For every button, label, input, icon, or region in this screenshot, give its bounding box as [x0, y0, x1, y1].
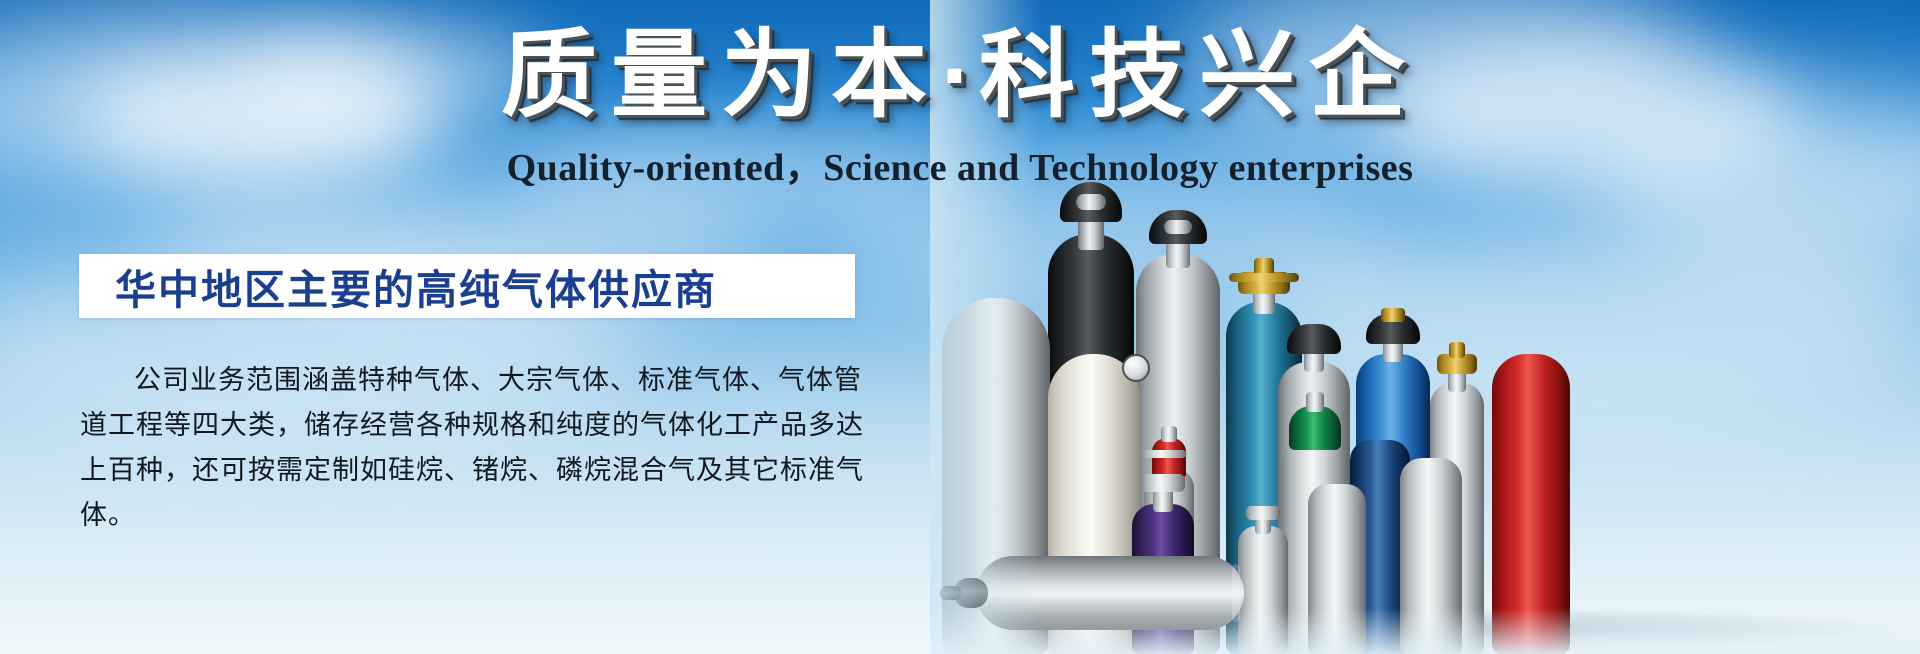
- page-subtitle: Quality-oriented，Science and Technology …: [0, 136, 1920, 191]
- description-paragraph: 公司业务范围涵盖特种气体、大宗气体、标准气体、气体管道工程等四大类，储存经营各种…: [80, 358, 870, 538]
- hero-banner: 质量为本·科技兴企 Quality-oriented，Science and T…: [0, 0, 1920, 654]
- pressure-gauge-icon: [1122, 354, 1150, 382]
- highlight-banner-box: 华中地区主要的高纯气体供应商: [79, 254, 855, 318]
- description-text: 公司业务范围涵盖特种气体、大宗气体、标准气体、气体管道工程等四大类，储存经营各种…: [80, 358, 870, 538]
- headline-part-1: 质量为本: [501, 22, 941, 129]
- highlight-banner-text: 华中地区主要的高纯气体供应商: [79, 256, 717, 316]
- headline-separator: ·: [941, 22, 979, 129]
- page-title: 质量为本·科技兴企: [0, 24, 1920, 128]
- headline-part-2: 科技兴企: [979, 22, 1419, 129]
- photo-bottom-blend: [930, 608, 1920, 654]
